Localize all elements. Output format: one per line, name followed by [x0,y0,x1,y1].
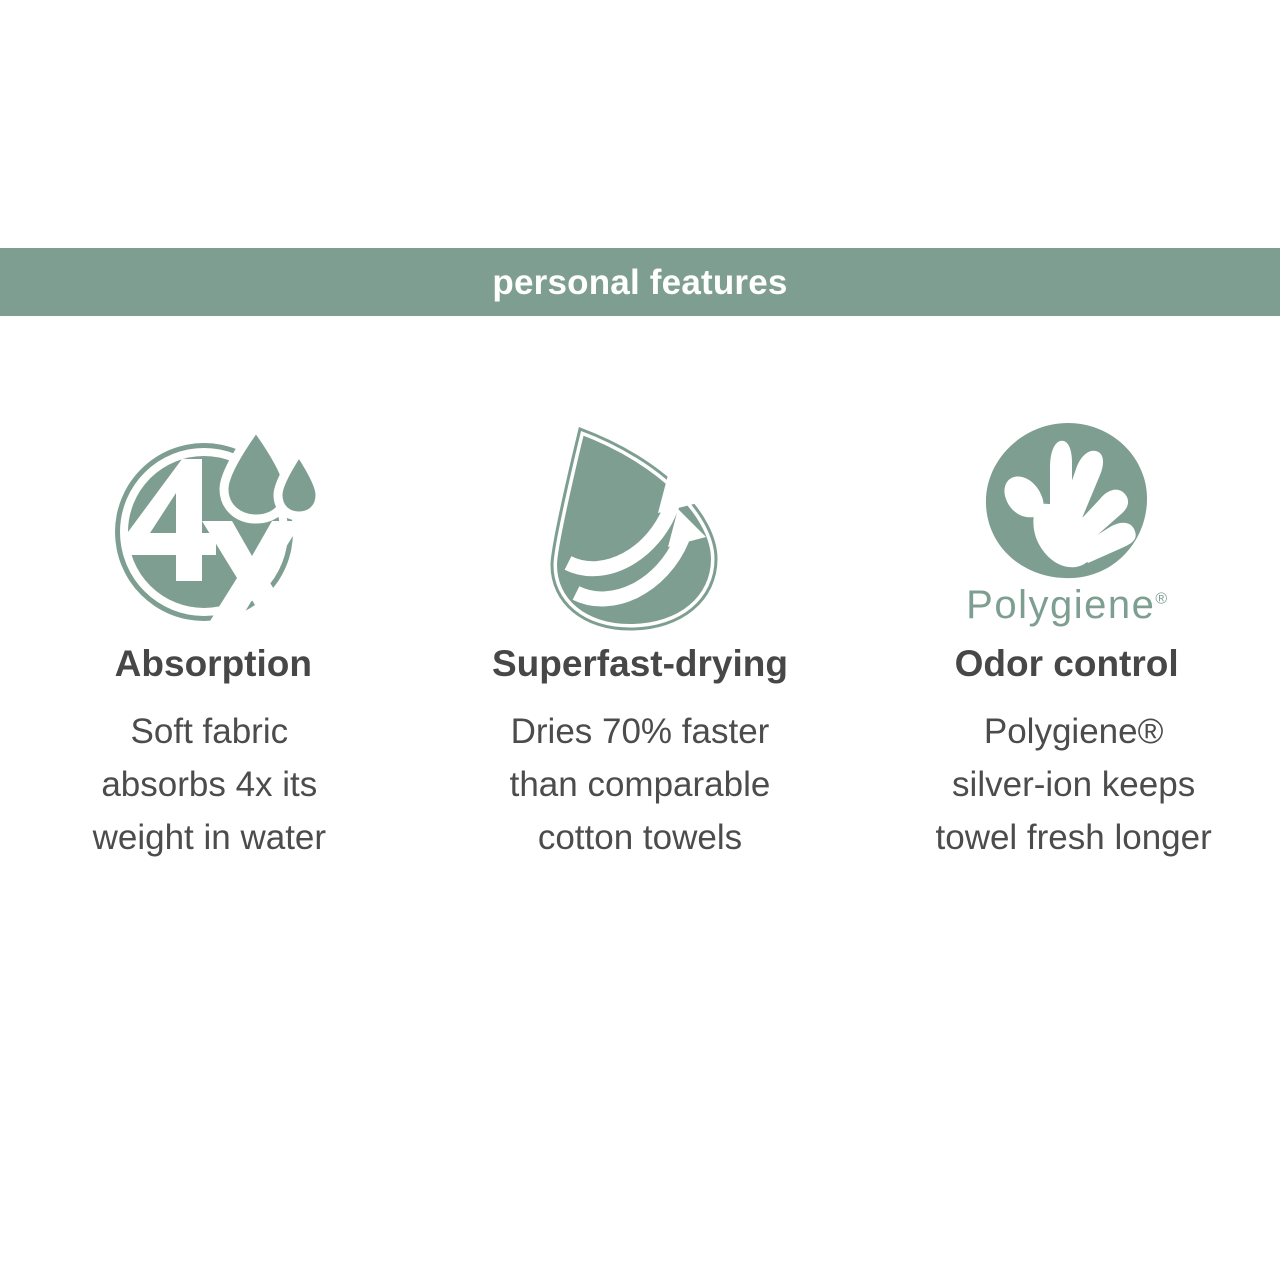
feature-column-absorption: Absorption Soft fabric absorbs 4x its we… [0,400,427,920]
polygiene-icon-wrap: Polygiene® [966,400,1167,645]
drying-icon-wrap [550,400,730,645]
feature-body-line: absorbs 4x its [93,758,326,811]
absorption-icon-wrap [106,400,321,645]
polygiene-wordmark-text: Polygiene [966,583,1155,627]
polygiene-wordmark: Polygiene® [966,585,1167,625]
feature-body-line: Polygiene® [936,705,1212,758]
banner-title: personal features [492,265,787,300]
personal-features-banner: personal features [0,248,1280,316]
feature-column-odor-control: Polygiene® Odor control Polygiene® silve… [853,400,1280,920]
feature-title-absorption: Absorption [115,645,312,682]
feature-body-line: cotton towels [510,811,771,864]
feature-body-line: towel fresh longer [936,811,1212,864]
feature-column-superfast-drying: Superfast-drying Dries 70% faster than c… [427,400,854,920]
feature-title-superfast-drying: Superfast-drying [492,645,788,682]
polygiene-hand-logo-icon [984,421,1149,581]
feature-body-line: silver-ion keeps [936,758,1212,811]
feature-body-superfast-drying: Dries 70% faster than comparable cotton … [510,705,771,865]
feature-body-line: than comparable [510,758,771,811]
feature-body-odor-control: Polygiene® silver-ion keeps towel fresh … [936,705,1212,865]
feature-title-odor-control: Odor control [955,645,1179,682]
registered-mark-icon: ® [1155,590,1167,607]
superfast-drying-droplet-arrows-icon [550,413,730,633]
feature-body-line: Soft fabric [93,705,326,758]
feature-columns: Absorption Soft fabric absorbs 4x its we… [0,400,1280,920]
feature-body-line: Dries 70% faster [510,705,771,758]
absorption-4x-droplet-icon [106,415,321,630]
feature-body-line: weight in water [93,811,326,864]
feature-body-absorption: Soft fabric absorbs 4x its weight in wat… [93,705,326,865]
